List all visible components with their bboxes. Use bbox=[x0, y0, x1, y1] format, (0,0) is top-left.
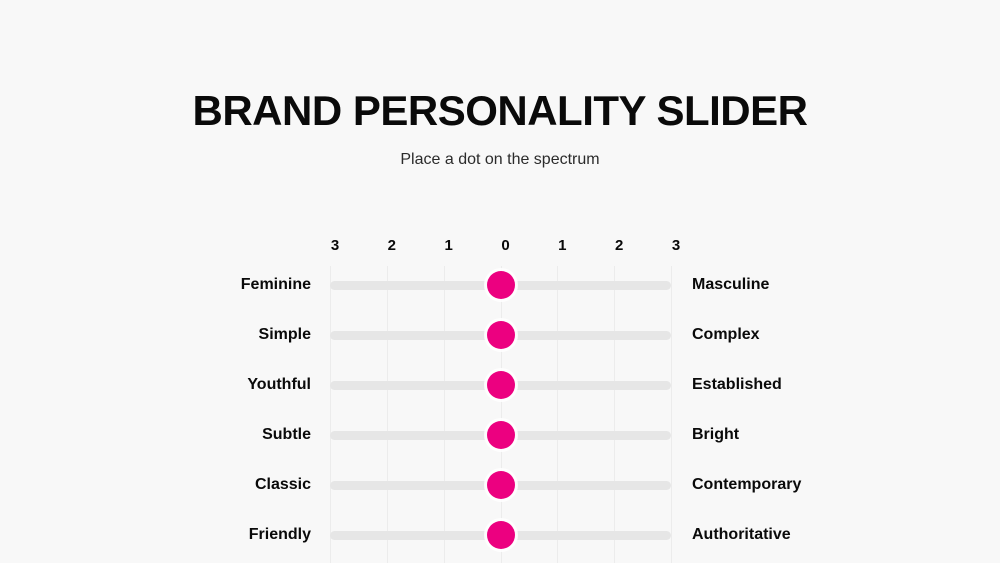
left-pole-label: Simple bbox=[51, 316, 311, 354]
slider-dot[interactable] bbox=[487, 521, 515, 549]
scale-header-row: 3210123 bbox=[0, 236, 1000, 266]
slider-dot[interactable] bbox=[487, 471, 515, 499]
spectrum-matrix: 3210123 FeminineMasculineSimpleComplexYo… bbox=[0, 236, 1000, 563]
page-header: BRAND PERSONALITY SLIDER Place a dot on … bbox=[0, 0, 1000, 169]
page-subtitle: Place a dot on the spectrum bbox=[0, 150, 1000, 169]
scale-label-6: 3 bbox=[656, 236, 696, 256]
scale-label-2: 1 bbox=[429, 236, 469, 256]
slider-dot[interactable] bbox=[487, 421, 515, 449]
spectrum-row: FriendlyAuthoritative bbox=[0, 516, 1000, 563]
spectrum-row: ClassicContemporary bbox=[0, 466, 1000, 516]
right-pole-label: Contemporary bbox=[692, 466, 982, 504]
left-pole-label: Classic bbox=[51, 466, 311, 504]
grid-area: FeminineMasculineSimpleComplexYouthfulEs… bbox=[0, 266, 1000, 563]
left-pole-label: Subtle bbox=[51, 416, 311, 454]
spectrum-row: YouthfulEstablished bbox=[0, 366, 1000, 416]
left-pole-label: Youthful bbox=[51, 366, 311, 404]
right-pole-label: Complex bbox=[692, 316, 982, 354]
slider-dot[interactable] bbox=[487, 321, 515, 349]
scale-label-0: 3 bbox=[315, 236, 355, 256]
spectrum-row: SubtleBright bbox=[0, 416, 1000, 466]
slider-dot[interactable] bbox=[487, 371, 515, 399]
page-title: BRAND PERSONALITY SLIDER bbox=[0, 90, 1000, 132]
right-pole-label: Authoritative bbox=[692, 516, 982, 554]
spectrum-rows: FeminineMasculineSimpleComplexYouthfulEs… bbox=[0, 266, 1000, 563]
scale-label-5: 2 bbox=[599, 236, 639, 256]
right-pole-label: Masculine bbox=[692, 266, 982, 304]
right-pole-label: Bright bbox=[692, 416, 982, 454]
left-pole-label: Friendly bbox=[51, 516, 311, 554]
scale-label-3: 0 bbox=[486, 236, 526, 256]
right-pole-label: Established bbox=[692, 366, 982, 404]
scale-label-4: 1 bbox=[542, 236, 582, 256]
left-pole-label: Feminine bbox=[51, 266, 311, 304]
slider-dot[interactable] bbox=[487, 271, 515, 299]
scale-label-1: 2 bbox=[372, 236, 412, 256]
slider-worksheet: BRAND PERSONALITY SLIDER Place a dot on … bbox=[0, 0, 1000, 563]
spectrum-row: SimpleComplex bbox=[0, 316, 1000, 366]
spectrum-row: FeminineMasculine bbox=[0, 266, 1000, 316]
